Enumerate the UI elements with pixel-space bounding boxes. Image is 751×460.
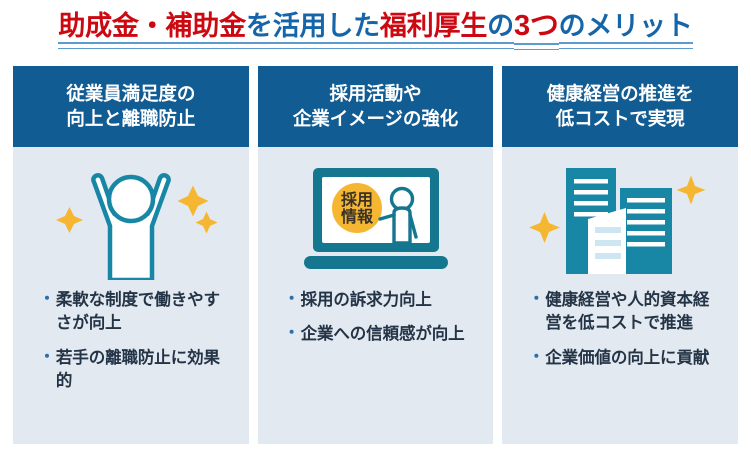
bullet-marker-icon: ・ (39, 347, 55, 370)
title-segment-welfare: 福利厚生 (380, 13, 487, 49)
bullet-list-3: ・ 健康経営や人的資本経営を低コストで推進 ・ 企業価値の向上に貢献 (502, 289, 738, 381)
recruitment-badge-line2: 情報 (340, 207, 373, 226)
list-item-text: 企業価値の向上に貢献 (545, 347, 722, 370)
sparkle-icon (56, 207, 83, 233)
page-title: 助成金・補助金を活用した福利厚生の3つのメリット (58, 12, 692, 50)
sparkle-icon (177, 186, 208, 217)
title-segment-subsidy: 助成金・補助金 (58, 13, 246, 49)
bullet-marker-icon: ・ (528, 289, 544, 312)
document-front-lines (595, 227, 621, 259)
bullet-marker-icon: ・ (39, 289, 55, 312)
card-body-3: ・ 健康経営や人的資本経営を低コストで推進 ・ 企業価値の向上に貢献 (502, 147, 738, 444)
card-body-1: ・ 柔軟な制度で働きやすさが向上 ・ 若手の離職防止に効果的 (13, 147, 249, 444)
card-header-1-line1: 従業員満足度の (66, 83, 195, 104)
list-item-text: 企業への信頼感が向上 (301, 323, 478, 346)
page-title-container: 助成金・補助金を活用した福利厚生の3つのメリット (0, 0, 751, 62)
benefit-card-health-management: 健康経営の推進を 低コストで実現 (502, 66, 738, 444)
bullet-marker-icon: ・ (284, 323, 300, 346)
card-header-2-line1: 採用活動や (330, 83, 422, 104)
recruitment-badge-line1: 採用 (340, 190, 372, 209)
list-item-text: 若手の離職防止に効果的 (56, 347, 233, 394)
title-segment-merits: のメリット (559, 13, 693, 49)
bullet-list-1: ・ 柔軟な制度で働きやすさが向上 ・ 若手の離職防止に効果的 (13, 289, 249, 405)
title-segment-no: の (487, 13, 514, 49)
list-item: ・ 企業への信頼感が向上 (284, 323, 478, 346)
list-item: ・ 採用の訴求力向上 (284, 289, 478, 312)
bullet-list-2: ・ 採用の訴求力向上 ・ 企業への信頼感が向上 (258, 289, 494, 358)
list-item-text: 柔軟な制度で働きやすさが向上 (56, 289, 233, 336)
card-header-3-line2: 低コストで実現 (556, 108, 685, 129)
benefit-card-employee-satisfaction: 従業員満足度の 向上と離職防止 (13, 66, 249, 444)
card-header-3-line1: 健康経営の推進を (547, 83, 694, 104)
sparkle-icon (677, 176, 706, 205)
icon-area-1 (13, 147, 249, 289)
presenter-body-shape (394, 208, 410, 243)
list-item-text: 健康経営や人的資本経営を低コストで推進 (545, 289, 722, 336)
list-item-text: 採用の訴求力向上 (301, 289, 478, 312)
card-header-3: 健康経営の推進を 低コストで実現 (502, 66, 738, 147)
title-segment-utilize: を活用した (246, 13, 380, 49)
person-raised-arms-icon (36, 156, 226, 280)
icon-area-3 (502, 147, 738, 289)
bullet-marker-icon: ・ (284, 289, 300, 312)
laptop-base (304, 256, 448, 269)
benefit-card-recruitment-image: 採用活動や 企業イメージの強化 採用 情報 (258, 66, 494, 444)
sparkle-icon (529, 212, 560, 243)
card-body-2: 採用 情報 ・ 採用の訴求力向上 ・ 企業への信頼感が向上 (258, 147, 494, 444)
card-header-1-line2: 向上と離職防止 (66, 108, 195, 129)
list-item: ・ 柔軟な制度で働きやすさが向上 (39, 289, 233, 336)
list-item: ・ 健康経営や人的資本経営を低コストで推進 (528, 289, 722, 336)
list-item: ・ 若手の離職防止に効果的 (39, 347, 233, 394)
benefit-cards-container: 従業員満足度の 向上と離職防止 (13, 66, 738, 444)
icon-area-2: 採用 情報 (258, 147, 494, 289)
person-head-shape (109, 177, 153, 221)
card-header-2-line2: 企業イメージの強化 (293, 108, 458, 129)
documents-buildings-icon (522, 157, 718, 279)
sparkle-icon (195, 212, 217, 234)
laptop-recruitment-icon: 採用 情報 (286, 157, 466, 279)
title-segment-three: 3つ (514, 12, 559, 50)
card-header-1: 従業員満足度の 向上と離職防止 (13, 66, 249, 147)
bullet-marker-icon: ・ (528, 347, 544, 370)
card-header-2: 採用活動や 企業イメージの強化 (258, 66, 494, 147)
list-item: ・ 企業価値の向上に貢献 (528, 347, 722, 370)
